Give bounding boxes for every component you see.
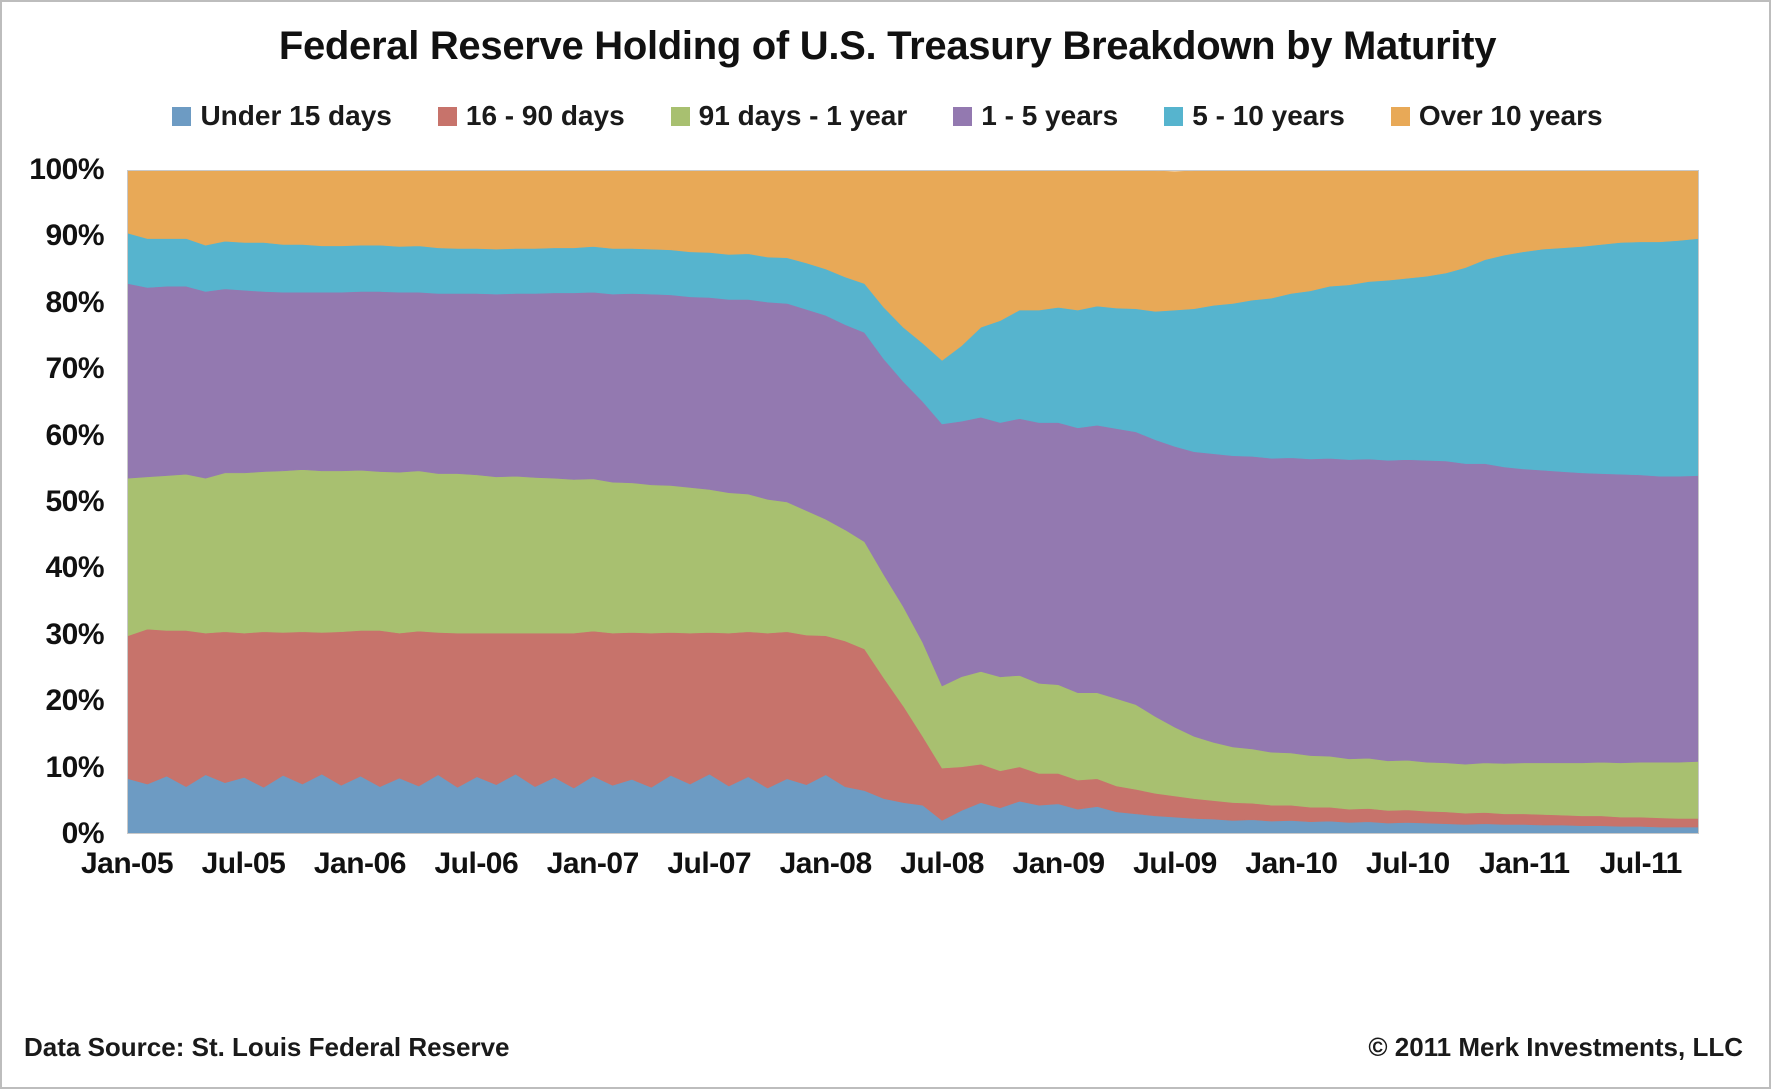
x-axis-tick-label: Jul-09 [1133, 847, 1217, 881]
stacked-area-chart [127, 170, 1699, 834]
y-axis-tick-label: 70% [45, 352, 104, 386]
legend-swatch-icon [438, 107, 457, 126]
y-axis-tick-label: 30% [45, 618, 104, 652]
y-axis-tick-label: 90% [45, 219, 104, 253]
x-axis-tick-label: Jan-07 [547, 847, 639, 881]
page-title: Federal Reserve Holding of U.S. Treasury… [2, 24, 1771, 69]
x-axis-tick-label: Jul-11 [1600, 847, 1682, 881]
x-axis-tick-label: Jul-10 [1366, 847, 1450, 881]
x-axis-tick-label: Jan-06 [314, 847, 406, 881]
x-axis-tick-label: Jul-08 [900, 847, 984, 881]
legend-item[interactable]: 1 - 5 years [953, 102, 1118, 130]
legend-item-label: 5 - 10 years [1192, 102, 1345, 130]
y-axis-tick-label: 10% [45, 751, 104, 785]
legend-item[interactable]: 91 days - 1 year [671, 102, 908, 130]
x-axis: Jan-05Jul-05Jan-06Jul-06Jan-07Jul-07Jan-… [127, 847, 1699, 897]
x-axis-tick-label: Jan-09 [1013, 847, 1105, 881]
legend-item-label: 1 - 5 years [981, 102, 1118, 130]
y-axis: 100%90%80%70%60%50%40%30%20%10%0% [2, 170, 114, 834]
y-axis-tick-label: 60% [45, 419, 104, 453]
legend-item[interactable]: Over 10 years [1391, 102, 1603, 130]
legend-swatch-icon [671, 107, 690, 126]
legend-item[interactable]: Under 15 days [172, 102, 391, 130]
legend-item-label: 91 days - 1 year [699, 102, 908, 130]
x-axis-tick-label: Jan-10 [1245, 847, 1337, 881]
chart-page: Federal Reserve Holding of U.S. Treasury… [0, 0, 1771, 1089]
plot-area [127, 170, 1699, 834]
y-axis-tick-label: 20% [45, 684, 104, 718]
legend-item[interactable]: 5 - 10 years [1164, 102, 1345, 130]
y-axis-tick-label: 100% [29, 153, 104, 187]
legend-swatch-icon [1391, 107, 1410, 126]
y-axis-tick-label: 40% [45, 551, 104, 585]
x-axis-tick-label: Jul-06 [434, 847, 518, 881]
legend-swatch-icon [953, 107, 972, 126]
legend-item-label: 16 - 90 days [466, 102, 625, 130]
y-axis-tick-label: 0% [62, 817, 104, 851]
x-axis-tick-label: Jan-05 [81, 847, 173, 881]
chart-legend: Under 15 days16 - 90 days91 days - 1 yea… [2, 102, 1771, 130]
data-source-label: Data Source: St. Louis Federal Reserve [24, 1032, 510, 1063]
copyright-label: © 2011 Merk Investments, LLC [1368, 1032, 1743, 1063]
x-axis-tick-label: Jan-11 [1479, 847, 1569, 881]
x-axis-tick-label: Jul-05 [202, 847, 286, 881]
legend-swatch-icon [1164, 107, 1183, 126]
x-axis-tick-label: Jul-07 [667, 847, 751, 881]
x-axis-tick-label: Jan-08 [780, 847, 872, 881]
y-axis-tick-label: 50% [45, 485, 104, 519]
legend-item-label: Under 15 days [200, 102, 391, 130]
y-axis-tick-label: 80% [45, 286, 104, 320]
legend-item[interactable]: 16 - 90 days [438, 102, 625, 130]
legend-item-label: Over 10 years [1419, 102, 1603, 130]
legend-swatch-icon [172, 107, 191, 126]
area-series-group [128, 171, 1698, 833]
